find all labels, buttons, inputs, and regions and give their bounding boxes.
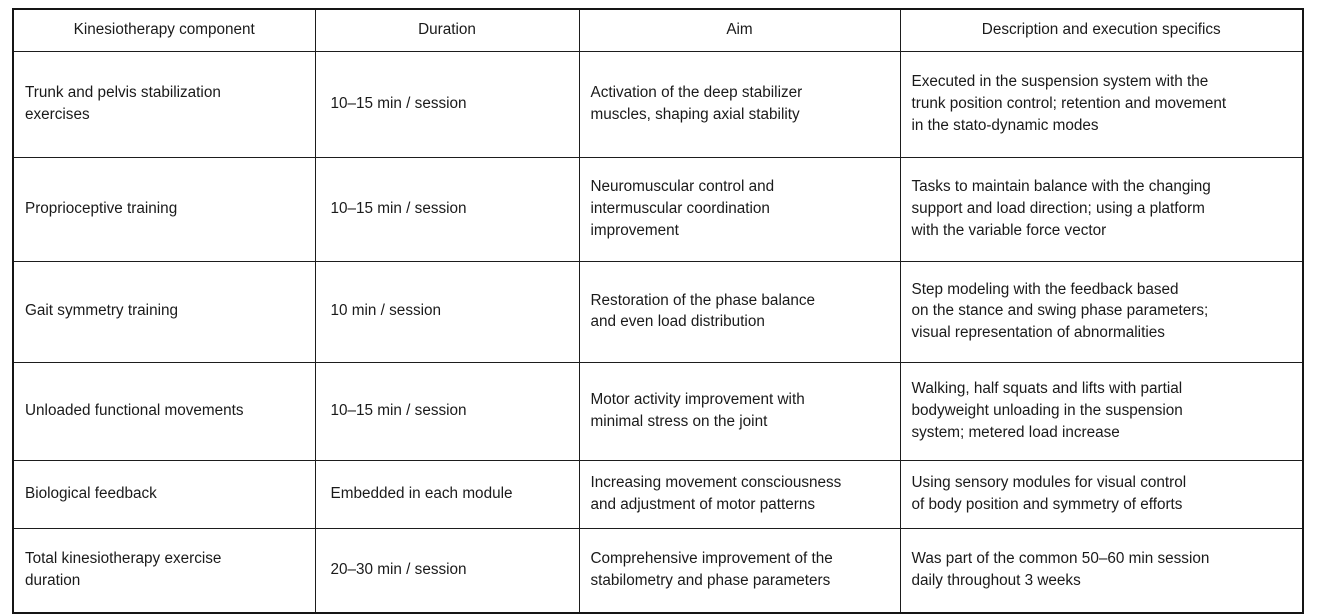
kinesiotherapy-protocol-table: Kinesiotherapy component Duration Aim De…: [12, 8, 1304, 614]
cell-description: Tasks to maintain balance with the chang…: [900, 157, 1303, 261]
cell-component: Unloaded functional movements: [13, 362, 315, 460]
table-row: Proprioceptive training 10–15 min / sess…: [13, 157, 1303, 261]
cell-description: Walking, half squats and lifts with part…: [900, 362, 1303, 460]
cell-duration: 10–15 min / session: [315, 51, 579, 157]
cell-duration: Embedded in each module: [315, 460, 579, 528]
cell-text: Was part of the common 50–60 min session…: [912, 548, 1291, 591]
cell-text: 10–15 min / session: [331, 198, 567, 220]
cell-aim: Neuromuscular control and intermuscular …: [579, 157, 900, 261]
cell-text: 10–15 min / session: [331, 400, 567, 422]
cell-text: Activation of the deep stabilizer muscle…: [591, 82, 888, 125]
cell-text: Executed in the suspension system with t…: [912, 71, 1291, 136]
table-body: Trunk and pelvis stabilization exercises…: [13, 51, 1303, 613]
table-row: Total kinesiotherapy exercise duration 2…: [13, 528, 1303, 613]
cell-description: Executed in the suspension system with t…: [900, 51, 1303, 157]
cell-text: Increasing movement consciousness and ad…: [591, 472, 888, 515]
cell-text: Biological feedback: [25, 483, 303, 505]
cell-text: Comprehensive improvement of the stabilo…: [591, 548, 888, 591]
cell-text: Tasks to maintain balance with the chang…: [912, 176, 1291, 241]
cell-text: Gait symmetry training: [25, 300, 303, 322]
table-row: Gait symmetry training 10 min / session …: [13, 261, 1303, 362]
cell-text: Embedded in each module: [331, 483, 567, 505]
table-row: Unloaded functional movements 10–15 min …: [13, 362, 1303, 460]
cell-text: Restoration of the phase balance and eve…: [591, 290, 888, 333]
column-header-component: Kinesiotherapy component: [13, 9, 315, 51]
table-header-row: Kinesiotherapy component Duration Aim De…: [13, 9, 1303, 51]
cell-aim: Restoration of the phase balance and eve…: [579, 261, 900, 362]
cell-text: Walking, half squats and lifts with part…: [912, 378, 1291, 443]
cell-text: 10–15 min / session: [331, 93, 567, 115]
cell-component: Proprioceptive training: [13, 157, 315, 261]
cell-component: Gait symmetry training: [13, 261, 315, 362]
cell-text: Proprioceptive training: [25, 198, 303, 220]
cell-description: Step modeling with the feedback based on…: [900, 261, 1303, 362]
cell-component: Trunk and pelvis stabilization exercises: [13, 51, 315, 157]
cell-description: Was part of the common 50–60 min session…: [900, 528, 1303, 613]
column-header-description: Description and execution specifics: [900, 9, 1303, 51]
cell-text: Step modeling with the feedback based on…: [912, 279, 1291, 344]
cell-text: 20–30 min / session: [331, 559, 567, 581]
table-row: Biological feedback Embedded in each mod…: [13, 460, 1303, 528]
column-header-aim: Aim: [579, 9, 900, 51]
table-row: Trunk and pelvis stabilization exercises…: [13, 51, 1303, 157]
cell-component: Biological feedback: [13, 460, 315, 528]
cell-text: Total kinesiotherapy exercise duration: [25, 548, 303, 591]
cell-aim: Comprehensive improvement of the stabilo…: [579, 528, 900, 613]
cell-duration: 10 min / session: [315, 261, 579, 362]
cell-text: Neuromuscular control and intermuscular …: [591, 176, 888, 241]
cell-text: Using sensory modules for visual control…: [912, 472, 1291, 515]
cell-duration: 10–15 min / session: [315, 362, 579, 460]
cell-aim: Increasing movement consciousness and ad…: [579, 460, 900, 528]
cell-text: Motor activity improvement with minimal …: [591, 389, 888, 432]
kinesiotherapy-table-container: Kinesiotherapy component Duration Aim De…: [12, 8, 1302, 488]
table-header: Kinesiotherapy component Duration Aim De…: [13, 9, 1303, 51]
column-header-duration: Duration: [315, 9, 579, 51]
cell-duration: 10–15 min / session: [315, 157, 579, 261]
cell-text: 10 min / session: [331, 300, 567, 322]
cell-text: Unloaded functional movements: [25, 400, 303, 422]
cell-aim: Activation of the deep stabilizer muscle…: [579, 51, 900, 157]
cell-aim: Motor activity improvement with minimal …: [579, 362, 900, 460]
cell-component: Total kinesiotherapy exercise duration: [13, 528, 315, 613]
cell-text: Trunk and pelvis stabilization exercises: [25, 82, 303, 125]
cell-description: Using sensory modules for visual control…: [900, 460, 1303, 528]
cell-duration: 20–30 min / session: [315, 528, 579, 613]
